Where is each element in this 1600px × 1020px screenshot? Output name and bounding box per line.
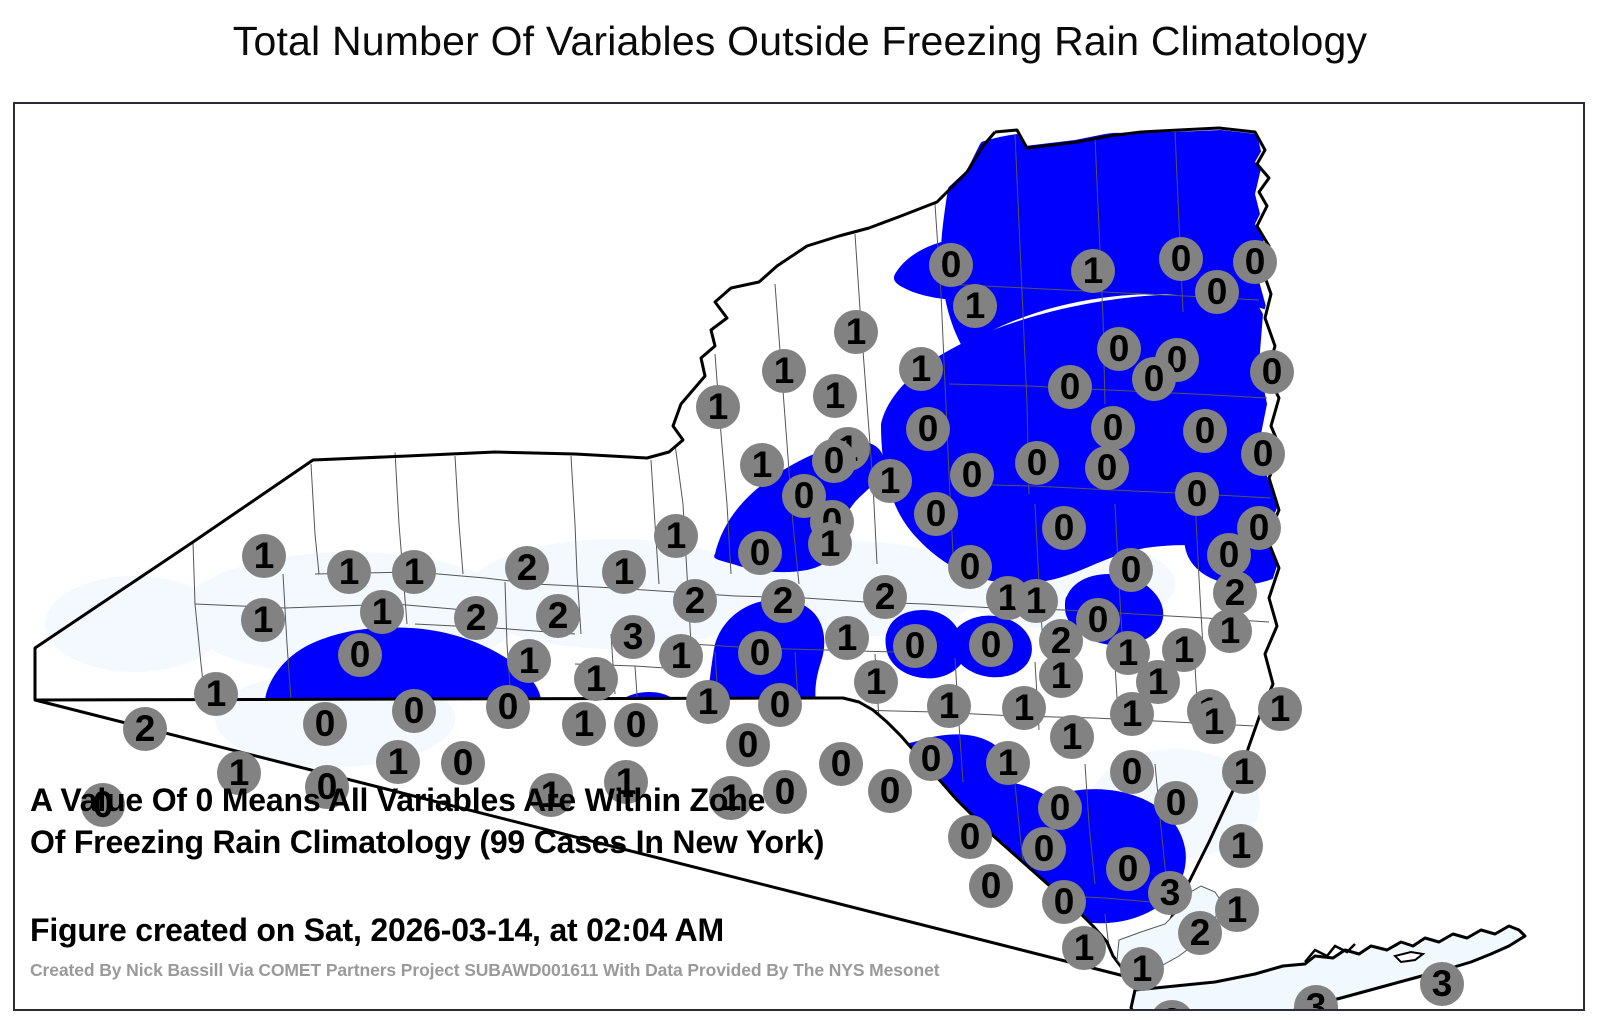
- station-value: 0: [404, 692, 425, 729]
- station-value: 0: [350, 636, 371, 673]
- station-value: 1: [698, 683, 719, 720]
- station-value: 2: [517, 549, 538, 586]
- credit-line: Created By Nick Bassill Via COMET Partne…: [30, 960, 1330, 981]
- station-value: 0: [1118, 850, 1139, 887]
- station-marker: 1: [686, 680, 730, 724]
- station-value: 0: [1121, 551, 1142, 588]
- station-marker: 2: [673, 579, 717, 623]
- station-value: 0: [1171, 240, 1192, 277]
- station-value: 3: [1162, 1003, 1183, 1012]
- station-value: 1: [1148, 663, 1169, 700]
- station-value: 0: [1253, 435, 1274, 472]
- map-frame: 0100101001100011000011000001000100010001…: [13, 102, 1585, 1011]
- annotation-note: A Value Of 0 Means All Variables Are Wit…: [30, 780, 1060, 863]
- station-marker: 1: [1222, 750, 1266, 794]
- station-marker: 0: [969, 864, 1013, 908]
- station-value: 0: [1245, 243, 1266, 280]
- station-marker: 1: [241, 598, 285, 642]
- station-marker: 0: [906, 407, 950, 451]
- station-marker: 0: [812, 439, 856, 483]
- station-marker: 1: [927, 684, 971, 728]
- station-marker: 0: [441, 741, 485, 785]
- station-marker: 1: [659, 634, 703, 678]
- station-value: 2: [1190, 914, 1211, 951]
- station-marker: 1: [1258, 687, 1302, 731]
- station-marker: 1: [953, 284, 997, 328]
- station-value: 0: [831, 745, 852, 782]
- station-marker: 1: [1110, 692, 1154, 736]
- station-value: 0: [1097, 449, 1118, 486]
- station-marker: 1: [740, 443, 784, 487]
- station-value: 0: [794, 477, 815, 514]
- station-marker: 0: [1195, 270, 1239, 314]
- station-value: 0: [738, 726, 759, 763]
- station-value: 1: [1204, 703, 1225, 740]
- station-marker: 1: [813, 374, 857, 418]
- station-value: 0: [1060, 368, 1081, 405]
- station-value: 0: [921, 740, 942, 777]
- station-value: 1: [206, 675, 227, 712]
- station-marker: 0: [726, 723, 770, 767]
- station-marker: 0: [614, 703, 658, 747]
- station-value: 1: [752, 446, 773, 483]
- station-value: 1: [1270, 690, 1291, 727]
- station-value: 0: [770, 686, 791, 723]
- station-value: 0: [905, 627, 926, 664]
- station-value: 1: [1026, 582, 1047, 619]
- station-value: 0: [1249, 509, 1270, 546]
- annotation-line-1: A Value Of 0 Means All Variables Are Wit…: [30, 780, 1060, 822]
- station-marker: 0: [303, 702, 347, 746]
- station-value: 1: [671, 637, 692, 674]
- station-marker: 1: [1219, 824, 1263, 868]
- station-value: 1: [866, 663, 887, 700]
- station-value: 0: [750, 634, 771, 671]
- station-value: 3: [1160, 874, 1181, 911]
- station-value: 0: [626, 706, 647, 743]
- station-value: 2: [1051, 622, 1072, 659]
- station-value: 1: [939, 687, 960, 724]
- station-value: 1: [846, 313, 867, 350]
- station-marker: 1: [360, 590, 404, 634]
- station-marker: 2: [123, 707, 167, 751]
- station-value: 0: [1088, 601, 1109, 638]
- station-value: 0: [1207, 273, 1228, 310]
- annotation-line-2: Of Freezing Rain Climatology (99 Cases I…: [30, 822, 1060, 864]
- station-marker: 0: [1132, 357, 1176, 401]
- station-value: 1: [1174, 631, 1195, 668]
- station-marker: 1: [327, 550, 371, 594]
- station-marker: 0: [758, 683, 802, 727]
- station-value: 0: [1027, 444, 1048, 481]
- station-marker: 2: [505, 546, 549, 590]
- station-value: 1: [998, 744, 1019, 781]
- station-marker: 0: [948, 545, 992, 589]
- station-marker: 1: [834, 310, 878, 354]
- station-marker: 0: [909, 737, 953, 781]
- station-marker: 1: [507, 639, 551, 683]
- station-marker: 1: [696, 385, 740, 429]
- station-marker: 0: [1106, 847, 1150, 891]
- station-marker: 2: [536, 594, 580, 638]
- station-marker: 1: [1208, 609, 1252, 653]
- station-marker: 1: [1071, 249, 1115, 293]
- station-value: 0: [1109, 330, 1130, 367]
- station-marker: 0: [1154, 781, 1198, 825]
- station-value: 1: [820, 525, 841, 562]
- station-marker: 0: [392, 689, 436, 733]
- station-marker: 1: [1039, 654, 1083, 698]
- station-value: 1: [586, 660, 607, 697]
- station-value: 0: [453, 744, 474, 781]
- station-marker: 3: [611, 615, 655, 659]
- station-marker: 0: [1085, 446, 1129, 490]
- station-value: 0: [1144, 360, 1165, 397]
- station-marker: 1: [1215, 888, 1259, 932]
- station-marker: 0: [738, 531, 782, 575]
- station-value: 1: [1118, 634, 1139, 671]
- station-marker: 1: [762, 349, 806, 393]
- station-value: 1: [339, 553, 360, 590]
- station-marker: 2: [863, 575, 907, 619]
- station-marker: 0: [1175, 472, 1219, 516]
- station-value: 1: [519, 642, 540, 679]
- station-value: 0: [962, 456, 983, 493]
- page-title: Total Number Of Variables Outside Freezi…: [0, 18, 1600, 65]
- station-value: 0: [1219, 536, 1240, 573]
- station-value: 0: [981, 867, 1002, 904]
- station-value: 1: [774, 352, 795, 389]
- station-marker: 0: [338, 633, 382, 677]
- station-marker: 0: [486, 685, 530, 729]
- station-marker: 1: [1002, 686, 1046, 730]
- station-marker: 2: [761, 579, 805, 623]
- figure-root: Total Number Of Variables Outside Freezi…: [0, 0, 1600, 1020]
- station-marker: 0: [1042, 506, 1086, 550]
- station-value: 1: [614, 553, 635, 590]
- station-value: 0: [1103, 409, 1124, 446]
- station-marker: 3: [1420, 962, 1464, 1006]
- station-value: 1: [574, 705, 595, 742]
- station-marker: 0: [950, 453, 994, 497]
- station-marker: 2: [1213, 571, 1257, 615]
- station-marker: 0: [929, 243, 973, 287]
- station-marker: 0: [1207, 533, 1251, 577]
- station-value: 1: [965, 287, 986, 324]
- station-marker: 2: [1178, 911, 1222, 955]
- station-value: 1: [1122, 695, 1143, 732]
- station-marker: 1: [1050, 715, 1094, 759]
- station-marker: 0: [969, 623, 1013, 667]
- station-value: 1: [372, 593, 393, 630]
- station-marker: 0: [1048, 365, 1092, 409]
- station-value: 3: [1432, 965, 1453, 1002]
- station-marker: 1: [1014, 579, 1058, 623]
- station-marker: 0: [1110, 750, 1154, 794]
- station-marker: 1: [868, 459, 912, 503]
- station-value: 1: [404, 553, 425, 590]
- station-marker: 1: [242, 534, 286, 578]
- station-value: 1: [708, 388, 729, 425]
- station-marker: 1: [602, 550, 646, 594]
- station-value: 0: [498, 688, 519, 725]
- station-marker: 0: [1241, 432, 1285, 476]
- station-value: 1: [1227, 891, 1248, 928]
- station-value: 1: [837, 619, 858, 656]
- station-value: 1: [880, 462, 901, 499]
- station-marker: 0: [1091, 406, 1135, 450]
- station-value: 2: [1225, 574, 1246, 611]
- station-value: 0: [981, 626, 1002, 663]
- station-value: 1: [1051, 657, 1072, 694]
- station-value: 0: [1262, 353, 1283, 390]
- station-marker: 0: [1109, 548, 1153, 592]
- station-value: 1: [1231, 827, 1252, 864]
- station-marker: 1: [808, 522, 852, 566]
- station-value: 1: [666, 517, 687, 554]
- station-value: 1: [1014, 689, 1035, 726]
- station-marker: 1: [899, 347, 943, 391]
- station-value: 0: [926, 495, 947, 532]
- station-marker: 1: [654, 514, 698, 558]
- station-value: 1: [1220, 612, 1241, 649]
- station-value: 1: [1083, 252, 1104, 289]
- station-value: 0: [941, 246, 962, 283]
- station-marker: 2: [454, 596, 498, 640]
- station-value: 3: [1306, 988, 1327, 1012]
- station-value: 2: [685, 582, 706, 619]
- station-value: 0: [1166, 784, 1187, 821]
- station-value: 0: [315, 705, 336, 742]
- station-value: 2: [875, 578, 896, 615]
- station-value: 1: [254, 537, 275, 574]
- station-value: 0: [1187, 475, 1208, 512]
- station-value: 2: [135, 710, 156, 747]
- station-marker: 1: [574, 657, 618, 701]
- station-value: 0: [960, 548, 981, 585]
- station-value: 0: [918, 410, 939, 447]
- station-value: 2: [466, 599, 487, 636]
- station-value: 1: [825, 377, 846, 414]
- station-marker: 0: [1183, 409, 1227, 453]
- station-value: 1: [388, 743, 409, 780]
- station-marker: 1: [392, 550, 436, 594]
- station-value: 1: [253, 601, 274, 638]
- station-value: 0: [750, 534, 771, 571]
- station-value: 2: [773, 582, 794, 619]
- station-value: 1: [1062, 718, 1083, 755]
- station-value: 1: [911, 350, 932, 387]
- station-marker: 0: [1233, 240, 1277, 284]
- station-marker: 1: [1192, 700, 1236, 744]
- station-marker: 1: [825, 616, 869, 660]
- station-marker: 1: [562, 702, 606, 746]
- station-value: 2: [548, 597, 569, 634]
- map-stage: 0100101001100011000011000001000100010001…: [15, 104, 1583, 1009]
- station-value: 1: [1234, 753, 1255, 790]
- station-marker: 0: [1097, 327, 1141, 371]
- station-marker: 1: [986, 741, 1030, 785]
- station-marker: 1: [194, 672, 238, 716]
- station-value: 0: [1195, 412, 1216, 449]
- station-marker: 0: [1015, 441, 1059, 485]
- creation-timestamp: Figure created on Sat, 2026-03-14, at 02…: [30, 912, 1130, 949]
- station-marker: 0: [914, 492, 958, 536]
- station-value: 3: [623, 618, 644, 655]
- station-marker: 1: [376, 740, 420, 784]
- station-marker: 1: [854, 660, 898, 704]
- station-value: 0: [1054, 509, 1075, 546]
- station-marker: 0: [738, 631, 782, 675]
- station-marker: 0: [1250, 350, 1294, 394]
- station-marker: 3: [1148, 871, 1192, 915]
- station-value: 0: [824, 442, 845, 479]
- station-value: 0: [1122, 753, 1143, 790]
- station-marker: 0: [893, 624, 937, 668]
- station-marker: 0: [1159, 237, 1203, 281]
